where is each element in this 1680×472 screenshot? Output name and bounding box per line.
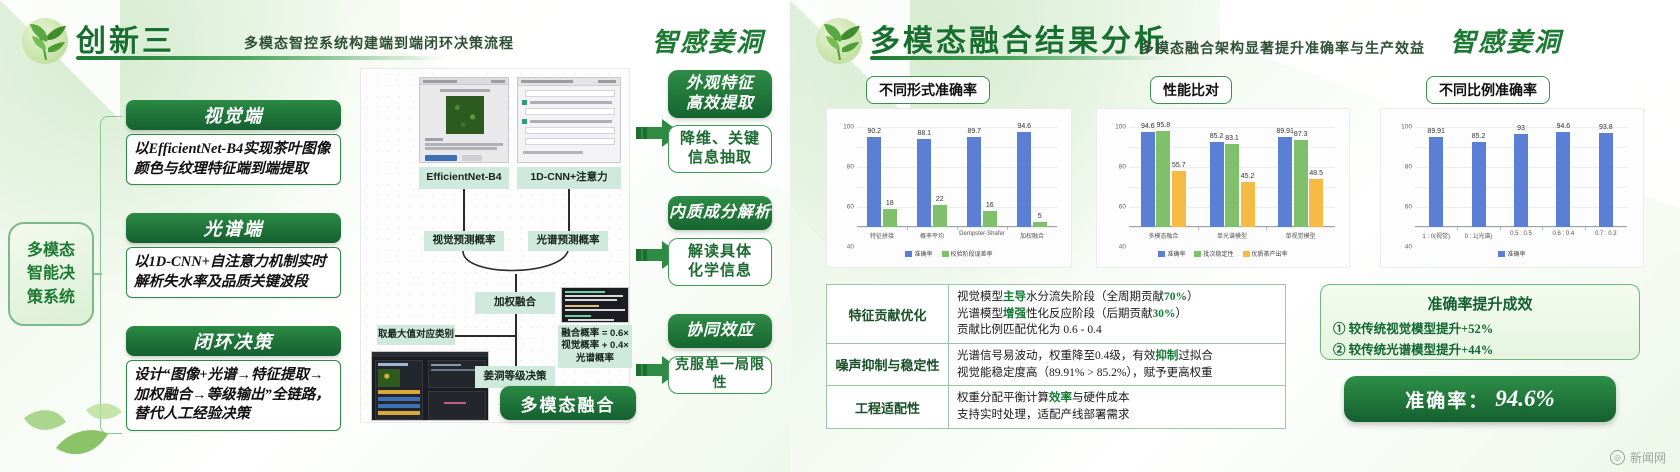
axis-tick-mark <box>957 227 958 230</box>
x-axis-tick-label: 0 : 1(光谱) <box>1465 231 1493 240</box>
bar-value-label: 87.3 <box>1294 131 1308 138</box>
chart-3-plot: 02040608010089.911 : 0(视觉)85.20 : 1(光谱)9… <box>1415 127 1627 227</box>
screenshot-spectral-tool <box>517 77 621 163</box>
bar <box>1033 222 1047 227</box>
axis-tick-mark <box>1585 227 1586 230</box>
brace-stub <box>94 273 102 275</box>
group-closed-loop: 闭环决策 设计“图像+光谱→特征提取→加权融合→等级输出”全链路，替代人工经验决… <box>126 326 341 431</box>
legend-item: 准确率 <box>1498 249 1525 258</box>
bar <box>1294 140 1308 227</box>
bar <box>883 209 897 227</box>
chart-1-card: 02040608010090.218特征拼接88.122概率平均89.716De… <box>826 108 1072 268</box>
bar-value-label: 48.5 <box>1309 170 1323 177</box>
flow-merge-curve <box>421 251 601 287</box>
y-axis-tick-label: 100 <box>1115 124 1126 131</box>
bar-value-label: 85.2 <box>1210 133 1224 140</box>
chart-1-plot: 02040608010090.218特征拼接88.122概率平均89.716De… <box>857 127 1057 227</box>
bar <box>1156 131 1170 227</box>
bar <box>933 205 947 227</box>
bar-value-label: 90.2 <box>867 128 881 135</box>
chart-1-title: 不同形式准确率 <box>866 76 990 104</box>
page-subtitle: 多模态智控系统构建端到端闭环决策流程 <box>244 33 514 53</box>
bar <box>1472 142 1486 227</box>
bar-value-label: 55.7 <box>1172 162 1186 169</box>
y-axis-tick-label: 100 <box>1401 124 1412 131</box>
flow-node-weighted-fusion: 加权融合 <box>475 292 555 314</box>
bar-value-label: 88.1 <box>917 130 931 137</box>
group-closed-loop-caption: 闭环决策 <box>126 326 341 356</box>
table-row: 噪声抑制与稳定性 光谱信号易波动，权重降至0.4级，有效抑制过拟合 视觉能稳定度… <box>827 344 1286 386</box>
tea-leaf-logo-icon <box>18 12 74 68</box>
table-key-2: 噪声抑制与稳定性 <box>827 344 949 386</box>
outcome-head-2: 内质成分解析 <box>668 196 772 230</box>
flow-canvas: EfficientNet-B4 1D-CNN+注意力 视觉预测概率 光谱预测概率… <box>360 68 630 423</box>
x-axis-tick-label: 0.6 : 0.4 <box>1553 231 1575 237</box>
gridline: 0 <box>1415 227 1627 228</box>
feature-table: 特征贡献优化 视觉模型主导水分流失阶段（全周期贡献70%） 光谱模型增强性化反应… <box>826 284 1286 429</box>
table-value-2: 光谱信号易波动，权重降至0.4级，有效抑制过拟合 视觉能稳定度高（89.91% … <box>949 344 1286 386</box>
bar <box>1141 132 1155 227</box>
legend-swatch <box>1498 251 1505 257</box>
group-spectral-body: 以1D-CNN+自注意力机制实时解析失水率及品质关键波段 <box>126 247 341 298</box>
group-closed-loop-body: 设计“图像+光谱→特征提取→加权融合→等级输出”全链路，替代人工经验决策 <box>126 360 341 431</box>
bar-value-label: 5 <box>1038 213 1042 220</box>
flow-argmax-label: 取最大值对应类别 <box>377 325 455 345</box>
right-page-subtitle: 多模态融合架构显著提升准确率与生产效益 <box>1140 38 1425 58</box>
screenshot-image-classifier <box>419 77 509 163</box>
legend-swatch <box>1243 251 1250 257</box>
y-axis-tick-label: 60 <box>1119 204 1126 211</box>
flow-node-grade-decision: 姜洞等级决策 <box>475 366 555 388</box>
y-axis-tick-label: 100 <box>843 124 854 131</box>
title-underline <box>76 56 448 60</box>
flow-edge-4 <box>515 314 517 366</box>
brand-mark-right: 智感姜洞 <box>1450 22 1562 59</box>
bar <box>1278 137 1292 227</box>
chart-2-title: 性能比对 <box>1150 76 1232 104</box>
result-value: 94.6% <box>1495 386 1554 412</box>
right-page-title: 多模态融合结果分析 <box>870 16 1167 60</box>
flow-edge-3 <box>515 274 517 292</box>
brand-mark-left: 智感姜洞 <box>652 22 764 59</box>
legend-item: 准确率 <box>905 249 932 258</box>
bar-value-label: 95.8 <box>1157 122 1171 129</box>
flow-node-efficientnet: EfficientNet-B4 <box>419 167 509 189</box>
result-label: 准确率： <box>1405 386 1489 413</box>
infographic-poster: 创新三 多模态智控系统构建端到端闭环决策流程 智感姜洞 多模态智能决策系统 视觉… <box>0 0 1680 472</box>
chart-3-legend: 准确率 <box>1381 249 1643 258</box>
bar <box>967 137 981 227</box>
axis-tick-mark <box>1500 227 1501 230</box>
result-badge: 准确率： 94.6% <box>1344 376 1616 422</box>
fusion-tag: 多模态融合 <box>500 386 636 420</box>
axis-tick-mark <box>1266 227 1267 230</box>
axis-tick-mark <box>907 227 908 230</box>
bar-value-label: 83.1 <box>1225 135 1239 142</box>
gain-line-2: ② 较传统光谱模型提升+44% <box>1333 340 1627 361</box>
x-axis-tick-label: 单视觉模型 <box>1286 231 1316 240</box>
x-axis-tick-label: Dempster-Shafer <box>959 231 1005 237</box>
bar <box>1514 134 1528 227</box>
table-value-1: 视觉模型主导水分流失阶段（全周期贡献70%） 光谱模型增强性化反应阶段（后期贡献… <box>949 285 1286 344</box>
root-node-label: 多模态智能决策系统 <box>27 239 75 309</box>
x-axis-tick-label: 0.7 : 0.3 <box>1595 231 1617 237</box>
root-node: 多模态智能决策系统 <box>8 222 94 326</box>
watermark: ◎ 新闻网 <box>1610 449 1666 466</box>
table-key-3: 工程适配性 <box>827 386 949 428</box>
y-axis-tick-label: 80 <box>1405 164 1412 171</box>
bar-value-label: 16 <box>986 202 994 209</box>
legend-swatch <box>1194 251 1201 257</box>
bar <box>1017 132 1031 227</box>
flow-edge-1 <box>463 189 465 231</box>
gain-line-1: ① 较传统视觉模型提升+52% <box>1333 319 1627 340</box>
gain-title: 准确率提升成效 <box>1333 293 1627 314</box>
bar-value-label: 89.91 <box>1276 128 1294 135</box>
legend-item: 批次稳定性 <box>1194 249 1233 258</box>
legend-swatch <box>905 251 912 257</box>
chart-2-card: 02040608010094.695.855.7多模态融合85.283.145.… <box>1096 108 1350 268</box>
screenshot-decision-dashboard <box>371 351 489 421</box>
bar <box>1429 137 1443 227</box>
axis-tick-mark <box>1542 227 1543 230</box>
bar <box>867 137 881 227</box>
bar <box>1556 132 1570 227</box>
group-visual-caption: 视觉端 <box>126 100 341 130</box>
brace-connector <box>100 116 122 434</box>
x-axis-tick-label: 单光谱模型 <box>1217 231 1247 240</box>
group-spectral-caption: 光谱端 <box>126 213 341 243</box>
right-title-underline <box>870 56 1170 60</box>
chart-2-legend: 准确率批次稳定性优质茶产出率 <box>1097 249 1349 258</box>
table-row: 特征贡献优化 视觉模型主导水分流失阶段（全周期贡献70%） 光谱模型增强性化反应… <box>827 285 1286 344</box>
axis-tick-mark <box>1198 227 1199 230</box>
bar-value-label: 94.6 <box>1017 123 1031 130</box>
legend-item: 优质茶产出率 <box>1243 249 1288 258</box>
legend-swatch <box>942 251 949 257</box>
outcome-head-1-label: 外观特征高效提取 <box>686 74 754 114</box>
bar-value-label: 22 <box>936 196 944 203</box>
page-title: 创新三 <box>76 16 175 60</box>
x-axis-tick-label: 概率平均 <box>920 231 944 240</box>
table-key-1: 特征贡献优化 <box>827 285 949 344</box>
outcome-body-1: 降维、关键信息抽取 <box>668 125 772 173</box>
gain-card: 准确率提升成效 ① 较传统视觉模型提升+52% ② 较传统光谱模型提升+44% <box>1320 284 1640 360</box>
table-row: 工程适配性 权重分配平衡计算效率与硬件成本 支持实时处理，适配产线部署需求 <box>827 386 1286 428</box>
outcome-body-3: 克服单一局限性 <box>668 356 772 394</box>
outcome-head-1: 外观特征高效提取 <box>668 70 772 118</box>
outcome-body-2-label: 解读具体化学信息 <box>688 243 752 282</box>
chart-3-card: 02040608010089.911 : 0(视觉)85.20 : 1(光谱)9… <box>1380 108 1644 268</box>
y-axis-tick-label: 80 <box>847 164 854 171</box>
flow-node-visual-prob: 视觉预测概率 <box>424 231 504 251</box>
chart-1-legend: 准确率校验阶段误差率 <box>827 249 1071 258</box>
x-axis-tick-label: 多模态融合 <box>1148 231 1178 240</box>
bar-value-label: 93.8 <box>1599 124 1613 131</box>
x-axis-tick-label: 特征拼接 <box>870 231 894 240</box>
flow-fusion-formula: 融合概率 = 0.6×视觉概率 + 0.4×光谱概率 <box>558 325 632 368</box>
bar <box>1210 142 1224 227</box>
bar <box>1172 171 1186 227</box>
group-spectral: 光谱端 以1D-CNN+自注意力机制实时解析失水率及品质关键波段 <box>126 213 341 298</box>
chart-2-plot: 02040608010094.695.855.7多模态融合85.283.145.… <box>1129 127 1335 227</box>
table-value-3: 权重分配平衡计算效率与硬件成本 支持实时处理，适配产线部署需求 <box>949 386 1286 428</box>
left-panel: 创新三 多模态智控系统构建端到端闭环决策流程 智感姜洞 多模态智能决策系统 视觉… <box>0 0 790 472</box>
flow-edge-2 <box>568 189 570 231</box>
right-panel: 多模态融合结果分析 多模态融合架构显著提升准确率与生产效益 智感姜洞 不同形式准… <box>790 0 1680 472</box>
leaf-decoration-icon <box>14 356 144 466</box>
x-axis-tick-label: 0.5 : 0.5 <box>1510 231 1532 237</box>
bar <box>1225 144 1239 227</box>
bar-value-label: 85.2 <box>1472 133 1486 140</box>
bar <box>983 211 997 227</box>
legend-item: 准确率 <box>1158 249 1185 258</box>
screenshot-fusion-code <box>561 287 629 323</box>
gridline: 0 <box>1129 227 1335 228</box>
bar <box>917 139 931 227</box>
bar <box>1309 179 1323 228</box>
outcome-body-1-label: 降维、关键信息抽取 <box>680 130 760 169</box>
y-axis-tick-label: 60 <box>847 204 854 211</box>
bar <box>1241 182 1255 227</box>
axis-tick-mark <box>1007 227 1008 230</box>
bar-value-label: 18 <box>886 200 894 207</box>
legend-swatch <box>1158 251 1165 257</box>
bar-value-label: 94.6 <box>1141 123 1155 130</box>
bar-value-label: 89.7 <box>967 128 981 135</box>
outcome-head-3: 协同效应 <box>668 314 772 348</box>
bar-value-label: 93 <box>1517 125 1525 132</box>
watermark-icon: ◎ <box>1610 450 1625 465</box>
watermark-label: 新闻网 <box>1630 449 1666 466</box>
bar <box>1599 133 1613 227</box>
x-axis-tick-label: 加权融合 <box>1020 231 1044 240</box>
group-visual-body: 以EfficientNet-B4实现茶叶图像颜色与纹理特征端到端提取 <box>126 134 341 185</box>
group-visual: 视觉端 以EfficientNet-B4实现茶叶图像颜色与纹理特征端到端提取 <box>126 100 341 185</box>
x-axis-tick-label: 1 : 0(视觉) <box>1422 231 1450 240</box>
outcome-body-2: 解读具体化学信息 <box>668 238 772 286</box>
bar-value-label: 45.2 <box>1241 173 1255 180</box>
y-axis-tick-label: 80 <box>1119 164 1126 171</box>
axis-tick-mark <box>1457 227 1458 230</box>
flow-node-cnn-attention: 1D-CNN+注意力 <box>517 167 621 189</box>
y-axis-tick-label: 60 <box>1405 204 1412 211</box>
flow-edge-5 <box>453 335 515 337</box>
bar-value-label: 94.6 <box>1557 123 1571 130</box>
tea-leaf-logo-icon-right <box>812 12 868 68</box>
flow-node-spectral-prob: 光谱预测概率 <box>528 231 608 251</box>
legend-item: 校验阶段误差率 <box>942 249 993 258</box>
bar-value-label: 89.91 <box>1427 128 1445 135</box>
chart-3-title: 不同比例准确率 <box>1426 76 1550 104</box>
